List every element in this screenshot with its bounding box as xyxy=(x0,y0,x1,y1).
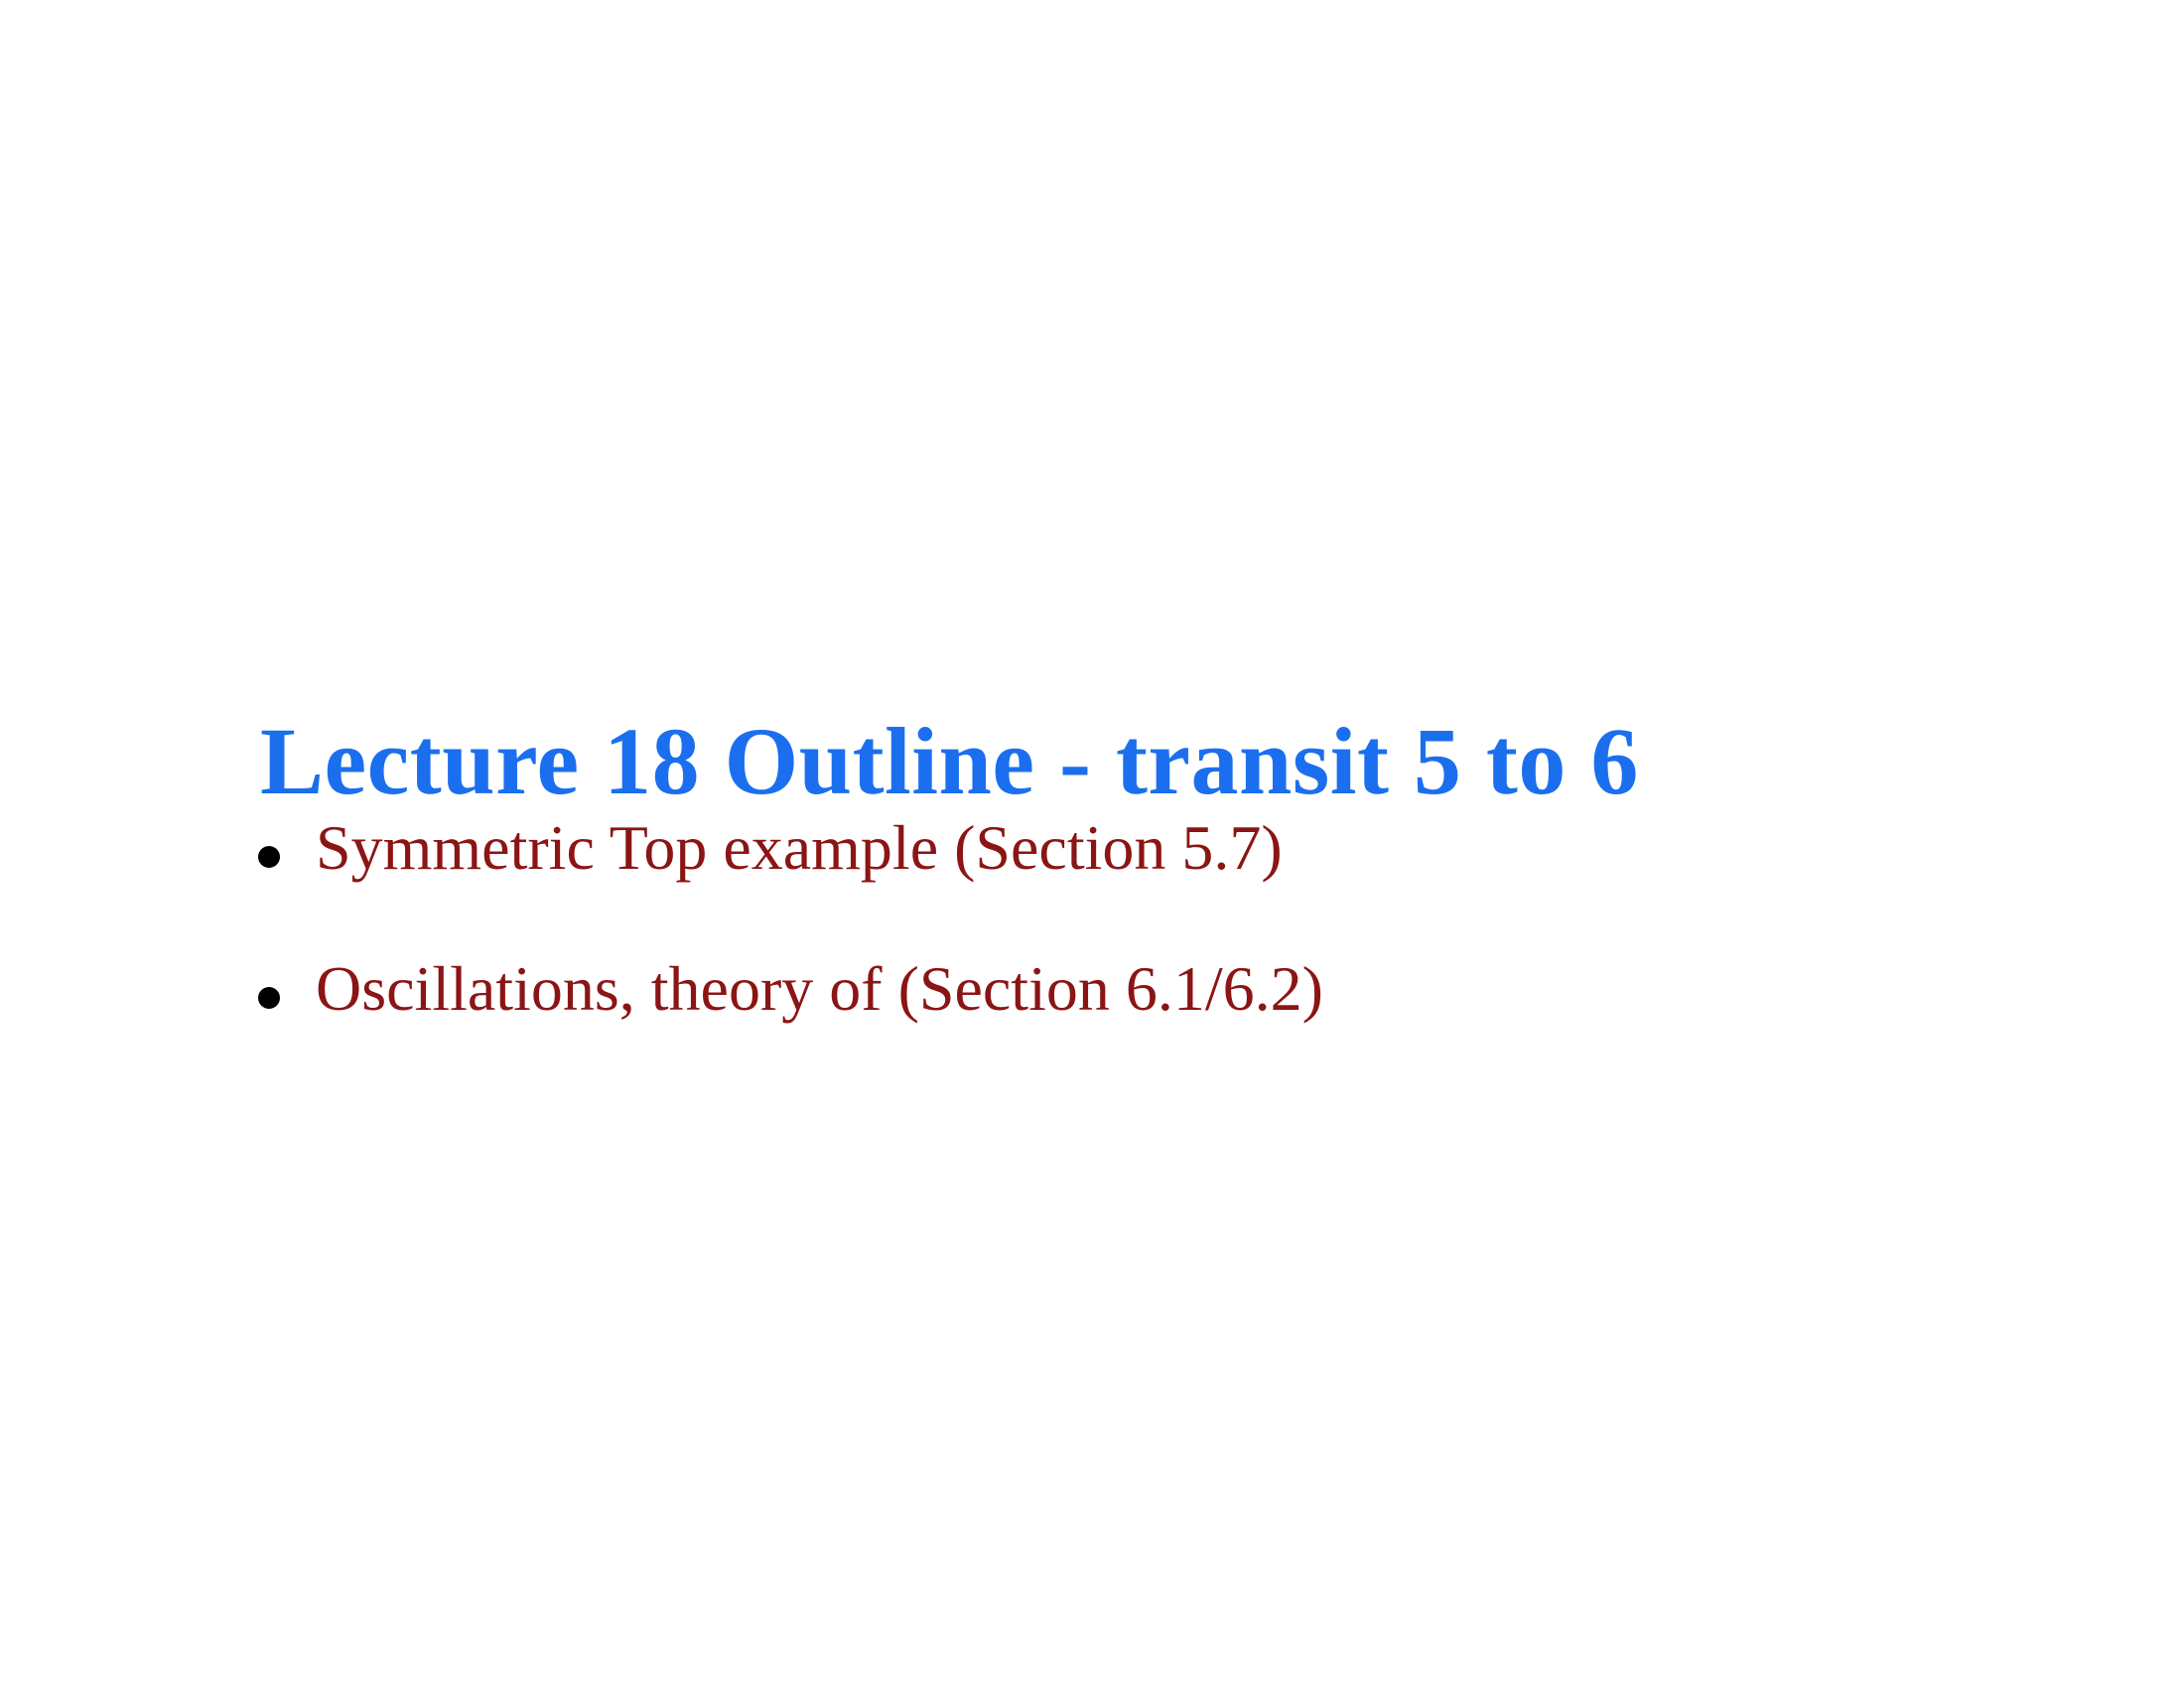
outline-bullet-list: Symmetric Top example (Section 5.7) Osci… xyxy=(250,814,2037,1023)
bullet-item-label: Oscillations, theory of (Section 6.1/6.2… xyxy=(316,955,1323,1023)
bullet-dot-icon xyxy=(258,987,280,1009)
lecture-slide: Lecture 18 Outline - transit 5 to 6 Symm… xyxy=(0,0,2184,1688)
list-item: Oscillations, theory of (Section 6.1/6.2… xyxy=(250,955,2037,1023)
bullet-dot-icon xyxy=(258,846,280,868)
list-item: Symmetric Top example (Section 5.7) xyxy=(250,814,2037,882)
bullet-item-label: Symmetric Top example (Section 5.7) xyxy=(316,814,1283,882)
slide-title: Lecture 18 Outline - transit 5 to 6 xyxy=(260,714,1968,809)
